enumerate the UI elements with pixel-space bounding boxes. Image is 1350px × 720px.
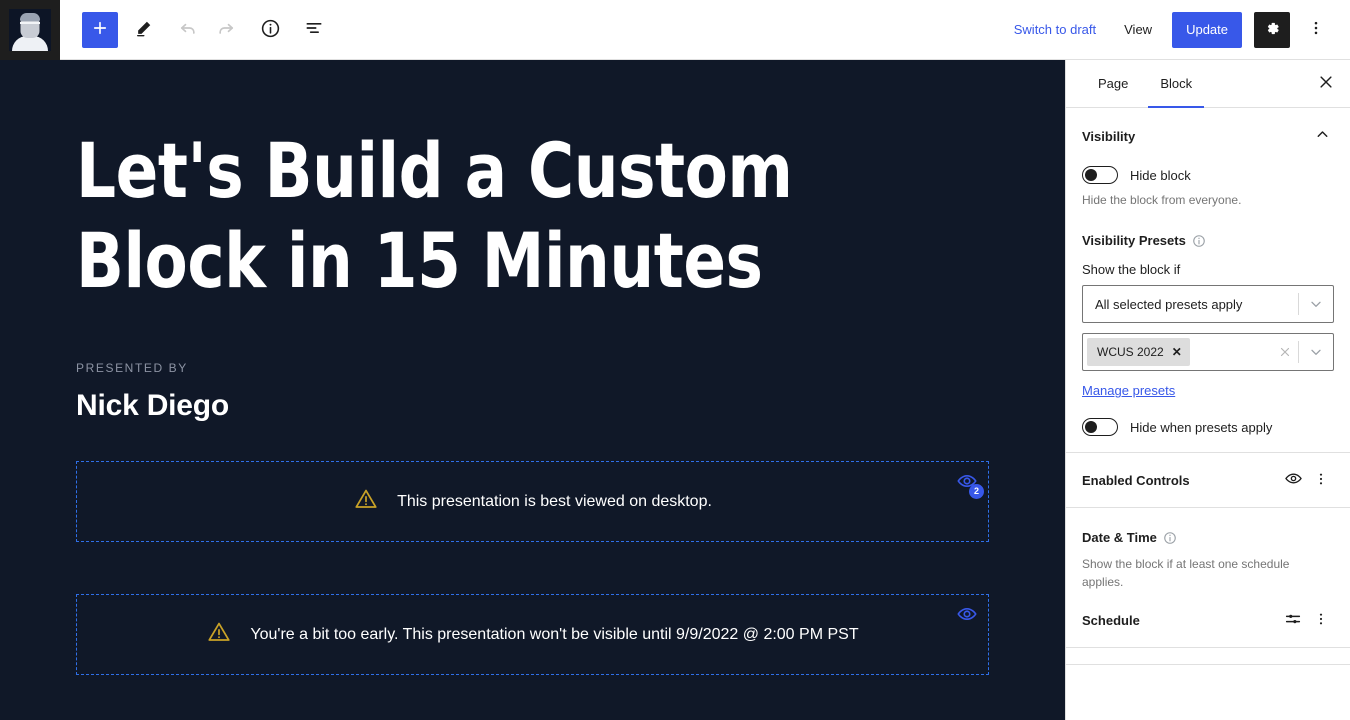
hide-when-presets-row: Hide when presets apply — [1082, 418, 1334, 436]
kebab-icon — [1313, 471, 1329, 490]
view-button[interactable]: View — [1112, 14, 1164, 45]
enabled-controls-panel: Enabled Controls — [1066, 453, 1350, 508]
date-time-header: Date & Time — [1082, 530, 1334, 545]
plus-icon — [91, 19, 109, 40]
visibility-panel: Visibility Hide block — [1066, 108, 1350, 453]
edit-tool-button[interactable] — [126, 12, 162, 48]
preset-token-field[interactable]: WCUS 2022 ✕ — [1082, 333, 1334, 371]
redo-icon — [216, 18, 236, 41]
schedule-actions — [1280, 607, 1334, 633]
tab-block[interactable]: Block — [1144, 60, 1208, 107]
warning-icon — [206, 619, 232, 650]
preset-rule-value: All selected presets apply — [1083, 297, 1298, 312]
sliders-icon — [1284, 610, 1302, 631]
hide-block-help: Hide the block from everyone. — [1082, 192, 1334, 209]
editor-toolbar: Switch to draft View Update — [0, 0, 1350, 60]
switch-to-draft-button[interactable]: Switch to draft — [1002, 14, 1108, 45]
settings-sidebar: Page Block Visibility — [1065, 60, 1350, 720]
hide-when-presets-label: Hide when presets apply — [1130, 420, 1272, 435]
close-icon — [1317, 73, 1335, 94]
site-avatar-button[interactable] — [0, 0, 60, 60]
enabled-controls-options-button[interactable] — [1308, 467, 1334, 493]
post-canvas[interactable]: Let's Build a Custom Block in 15 Minutes… — [0, 60, 1065, 720]
date-time-title: Date & Time — [1082, 530, 1157, 545]
tab-page[interactable]: Page — [1082, 60, 1144, 107]
warning-icon — [353, 486, 379, 517]
preset-rule-select[interactable]: All selected presets apply — [1082, 285, 1334, 323]
divider — [1066, 647, 1350, 648]
preset-token-label: WCUS 2022 — [1097, 345, 1164, 359]
info-icon[interactable] — [1163, 531, 1177, 545]
editor-root: Switch to draft View Update — [0, 0, 1350, 720]
visibility-panel-title: Visibility — [1082, 129, 1135, 144]
hide-block-label: Hide block — [1130, 168, 1191, 183]
visibility-panel-header[interactable]: Visibility — [1082, 124, 1334, 148]
more-options-button[interactable] — [1298, 12, 1334, 48]
manage-presets-link[interactable]: Manage presets — [1082, 383, 1175, 398]
chevron-down-icon — [1299, 296, 1333, 312]
date-time-panel: Date & Time Show the block if at least o… — [1066, 508, 1350, 665]
visibility-badge[interactable]: 2 — [954, 470, 980, 496]
enabled-controls-actions — [1280, 467, 1334, 493]
visibility-collapse-button[interactable] — [1310, 124, 1334, 148]
avatar — [9, 9, 51, 51]
notice-text: This presentation is best viewed on desk… — [397, 493, 712, 511]
presenter-name[interactable]: Nick Diego — [76, 389, 989, 423]
badge-count: 2 — [969, 484, 984, 499]
token-chevron-down-icon[interactable] — [1299, 344, 1333, 360]
enabled-controls-eye-button[interactable] — [1280, 467, 1306, 493]
gear-icon — [1264, 20, 1281, 40]
info-icon[interactable] — [1192, 234, 1206, 248]
eye-icon — [956, 603, 978, 630]
hide-block-toggle[interactable] — [1082, 166, 1118, 184]
show-block-if-label: Show the block if — [1082, 262, 1334, 277]
date-time-description: Show the block if at least one schedule … — [1082, 555, 1334, 591]
enabled-controls-header[interactable]: Enabled Controls — [1082, 467, 1334, 493]
visibility-presets-label: Visibility Presets — [1082, 233, 1186, 248]
schedule-row[interactable]: Schedule — [1082, 607, 1334, 633]
presented-by-label: PRESENTED BY — [76, 361, 989, 375]
notice-text: You're a bit too early. This presentatio… — [250, 626, 858, 644]
slide-title[interactable]: Let's Build a Custom Block in 15 Minutes — [76, 126, 904, 305]
kebab-icon — [1313, 611, 1329, 630]
undo-button[interactable] — [170, 12, 206, 48]
remove-token-icon[interactable]: ✕ — [1172, 346, 1182, 358]
notice-content: You're a bit too early. This presentatio… — [206, 619, 858, 650]
eye-icon — [1284, 469, 1303, 491]
redo-button[interactable] — [208, 12, 244, 48]
toolbar-left-group — [60, 0, 332, 59]
undo-icon — [178, 18, 198, 41]
hide-when-presets-toggle[interactable] — [1082, 418, 1118, 436]
schedule-settings-button[interactable] — [1280, 607, 1306, 633]
kebab-icon — [1307, 19, 1325, 40]
close-sidebar-button[interactable] — [1302, 60, 1350, 107]
sidebar-scroll: Visibility Hide block — [1066, 108, 1350, 720]
visibility-badge[interactable] — [954, 603, 980, 629]
update-button[interactable]: Update — [1172, 12, 1242, 48]
notice-content: This presentation is best viewed on desk… — [353, 486, 712, 517]
add-block-button[interactable] — [82, 12, 118, 48]
schedule-label: Schedule — [1082, 613, 1140, 628]
chevron-up-icon — [1314, 126, 1331, 146]
list-view-icon — [304, 18, 324, 41]
notice-block[interactable]: This presentation is best viewed on desk… — [76, 461, 989, 542]
enabled-controls-title: Enabled Controls — [1082, 473, 1190, 488]
hide-block-row: Hide block — [1082, 166, 1334, 184]
settings-button[interactable] — [1254, 12, 1290, 48]
editor-body: Let's Build a Custom Block in 15 Minutes… — [0, 60, 1350, 720]
list-view-button[interactable] — [296, 12, 332, 48]
visibility-presets-row: Visibility Presets — [1082, 233, 1334, 248]
toolbar-right-group: Switch to draft View Update — [1002, 0, 1350, 59]
pencil-icon — [134, 18, 154, 41]
preset-token: WCUS 2022 ✕ — [1087, 338, 1190, 366]
clear-tokens-icon[interactable] — [1272, 345, 1298, 359]
schedule-options-button[interactable] — [1308, 607, 1334, 633]
sidebar-tabs: Page Block — [1066, 60, 1350, 108]
notice-block[interactable]: You're a bit too early. This presentatio… — [76, 594, 989, 675]
details-button[interactable] — [252, 12, 288, 48]
info-icon — [260, 18, 281, 42]
